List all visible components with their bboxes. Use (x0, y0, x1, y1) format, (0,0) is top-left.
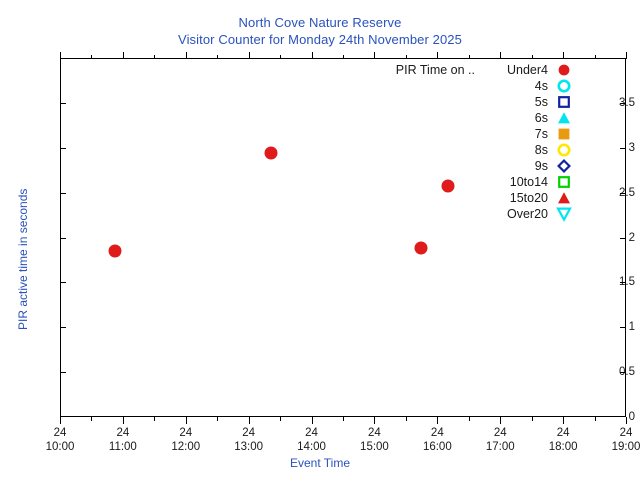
x-axis-minor-tick-mark (91, 417, 92, 421)
x-axis-minor-tick-mark (595, 417, 596, 421)
x-axis-minor-tick-mark (406, 417, 407, 421)
chart-title-line-2: Visitor Counter for Monday 24th November… (0, 31, 640, 48)
x-axis-tick-day: 24 (151, 426, 221, 440)
x-axis-tick-time: 11:00 (88, 440, 158, 454)
x-axis-tick-mark (123, 417, 124, 424)
chart-container: North Cove Nature Reserve Visitor Counte… (0, 0, 640, 480)
legend-marker-open-circle-icon (556, 78, 572, 94)
x-axis-tick-label: 2414:00 (277, 426, 347, 454)
x-axis-tick-time: 18:00 (528, 440, 598, 454)
legend-item-label: 15to20 (510, 190, 548, 206)
x-axis-tick-label: 2415:00 (339, 426, 409, 454)
legend-marker-filled-triangle-up-icon (556, 190, 572, 206)
legend-title: PIR Time on .. (396, 62, 475, 78)
x-axis-tick-mark (437, 417, 438, 424)
x-axis-tick-label: 2412:00 (151, 426, 221, 454)
x-axis-tick-time: 16:00 (402, 440, 472, 454)
x-axis-tick-day: 24 (25, 426, 95, 440)
legend-marker-filled-triangle-up-icon (556, 110, 572, 126)
x-axis-tick-label: 2411:00 (88, 426, 158, 454)
legend-item-7s[interactable]: 7s (300, 126, 580, 142)
x-axis-tick-time: 13:00 (214, 440, 284, 454)
x-axis-tick-mark (626, 417, 627, 424)
legend-item-label: 5s (535, 94, 548, 110)
data-point[interactable] (108, 245, 121, 258)
x-axis-tick-label: 2417:00 (465, 426, 535, 454)
x-axis-tick-time: 19:00 (591, 440, 640, 454)
legend-item-label: 9s (535, 158, 548, 174)
x-axis-tick-mark (312, 417, 313, 424)
x-axis-minor-tick-mark (343, 417, 344, 421)
x-axis-tick-label: 2413:00 (214, 426, 284, 454)
chart-title-line-1: North Cove Nature Reserve (239, 15, 402, 30)
x-axis-tick-time: 10:00 (25, 440, 95, 454)
x-axis-minor-tick-mark (469, 417, 470, 421)
legend-marker-open-circle-icon (556, 142, 572, 158)
chart-title: North Cove Nature Reserve Visitor Counte… (0, 14, 640, 48)
x-axis-tick-day: 24 (402, 426, 472, 440)
legend-item-9s[interactable]: 9s (300, 158, 580, 174)
x-axis-tick-day: 24 (528, 426, 598, 440)
data-point[interactable] (414, 242, 427, 255)
legend-marker-filled-circle-icon (556, 62, 572, 78)
x-axis-tick-mark (60, 417, 61, 424)
legend-item-8s[interactable]: 8s (300, 142, 580, 158)
x-axis-tick-time: 17:00 (465, 440, 535, 454)
legend-item-10to14[interactable]: 10to14 (300, 174, 580, 190)
x-axis-tick-time: 15:00 (339, 440, 409, 454)
legend-item-label: 8s (535, 142, 548, 158)
legend-item-label: 10to14 (510, 174, 548, 190)
x-axis-tick-label: 2419:00 (591, 426, 640, 454)
data-point[interactable] (264, 147, 277, 160)
x-axis-tick-mark (500, 417, 501, 424)
legend-marker-open-square-icon (556, 174, 572, 190)
y-axis-label: PIR active time in seconds (16, 189, 30, 330)
x-axis-minor-tick-mark (154, 417, 155, 421)
legend-marker-open-square-icon (556, 94, 572, 110)
legend-item-6s[interactable]: 6s (300, 110, 580, 126)
x-axis-tick-time: 14:00 (277, 440, 347, 454)
chart-legend: PIR Time on ..Under44s5s6s7s8s9s10to1415… (300, 62, 580, 222)
x-axis-tick-mark (563, 417, 564, 424)
legend-item-label: 7s (535, 126, 548, 142)
x-axis-tick-day: 24 (465, 426, 535, 440)
x-axis-tick-day: 24 (277, 426, 347, 440)
legend-marker-open-diamond-icon (556, 158, 572, 174)
legend-item-label: 6s (535, 110, 548, 126)
x-axis-tick-day: 24 (339, 426, 409, 440)
x-axis-minor-tick-mark (280, 417, 281, 421)
x-axis-minor-tick-mark (217, 417, 218, 421)
legend-item-label: Under4 (507, 62, 548, 78)
x-axis-tick-day: 24 (591, 426, 640, 440)
x-axis-tick-label: 2410:00 (25, 426, 95, 454)
legend-item-15to20[interactable]: 15to20 (300, 190, 580, 206)
legend-item-label: 4s (535, 78, 548, 94)
legend-item-over20[interactable]: Over20 (300, 206, 580, 222)
x-axis-tick-label: 2418:00 (528, 426, 598, 454)
x-axis-tick-label: 2416:00 (402, 426, 472, 454)
x-axis-tick-mark (374, 417, 375, 424)
x-axis-tick-mark (626, 52, 627, 59)
legend-marker-open-triangle-down-icon (556, 206, 572, 222)
x-axis-tick-day: 24 (214, 426, 284, 440)
legend-item-label: Over20 (507, 206, 548, 222)
x-axis-tick-mark (249, 417, 250, 424)
legend-item-under4[interactable]: PIR Time on ..Under4 (300, 62, 580, 78)
x-axis-label: Event Time (0, 456, 640, 470)
legend-item-4s[interactable]: 4s (300, 78, 580, 94)
legend-marker-filled-square-icon (556, 126, 572, 142)
x-axis-tick-day: 24 (88, 426, 158, 440)
x-axis-tick-time: 12:00 (151, 440, 221, 454)
legend-item-5s[interactable]: 5s (300, 94, 580, 110)
x-axis-tick-mark (186, 417, 187, 424)
x-axis-minor-tick-mark (532, 417, 533, 421)
